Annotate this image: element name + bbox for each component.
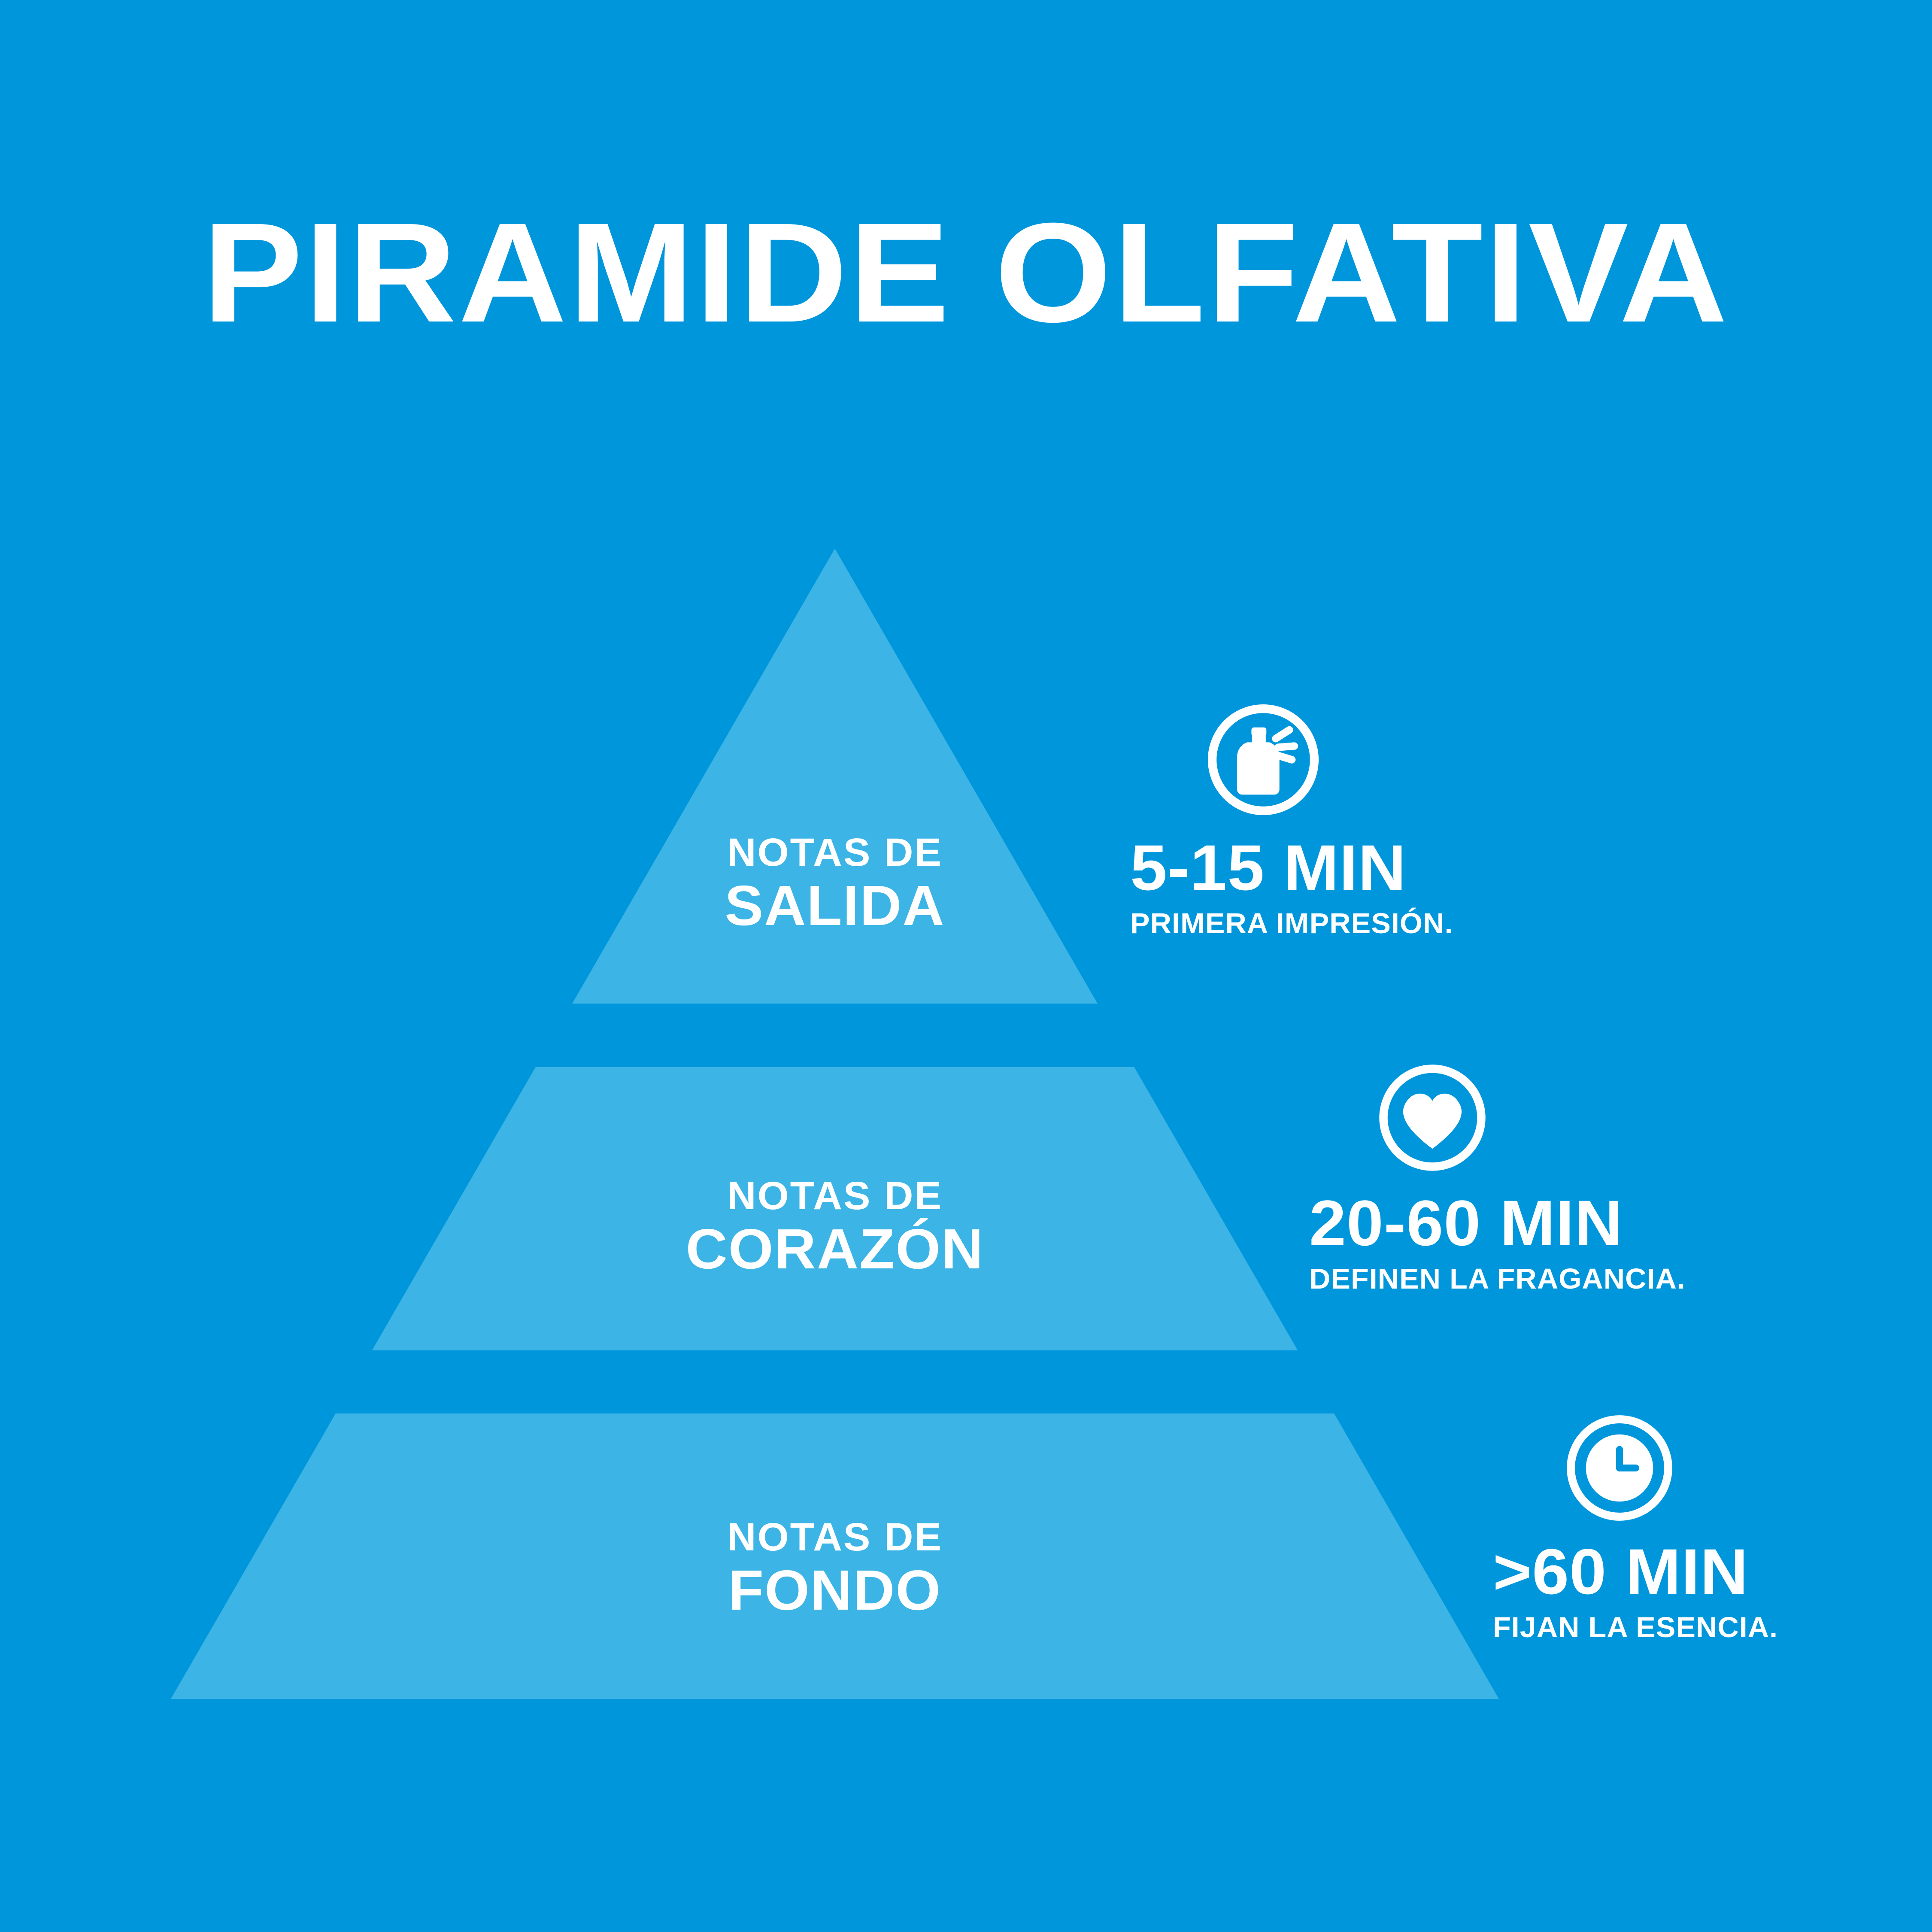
pyramid-label-middle-line2: CORAZÓN xyxy=(485,1221,1185,1277)
pyramid-band-top xyxy=(0,549,1932,1004)
pyramid-label-middle-line1: NOTAS DE xyxy=(485,1176,1185,1216)
info-block-middle: 20-60 MIN DEFINEN LA FRAGANCIA. xyxy=(1309,1058,1678,1293)
pyramid-label-bottom: NOTAS DE FONDO xyxy=(491,1517,1178,1619)
description-top: PRIMERA IMPRESIÓN. xyxy=(1130,909,1453,938)
info-block-top: 5-15 MIN PRIMERA IMPRESIÓN. xyxy=(1130,698,1447,938)
duration-middle: 20-60 MIN xyxy=(1309,1191,1689,1255)
pyramid-label-middle: NOTAS DE CORAZÓN xyxy=(491,1176,1178,1277)
pyramid-label-bottom-line1: NOTAS DE xyxy=(485,1517,1185,1557)
page-title: PIRAMIDE OLFATIVA xyxy=(0,202,1932,343)
heart-icon xyxy=(1373,1058,1678,1180)
description-middle: DEFINEN LA FRAGANCIA. xyxy=(1309,1265,1686,1293)
pyramid-label-top: NOTAS DE SALIDA xyxy=(491,833,1178,934)
duration-top: 5-15 MIN xyxy=(1130,835,1456,900)
pyramid-label-top-line1: NOTAS DE xyxy=(485,833,1185,872)
clock-icon xyxy=(1562,1410,1772,1528)
duration-bottom: >60 MIN xyxy=(1493,1539,1781,1604)
pyramid-label-top-line2: SALIDA xyxy=(485,877,1185,934)
spray-bottle-icon xyxy=(1201,698,1447,824)
description-bottom: FIJAN LA ESENCIA. xyxy=(1493,1613,1778,1642)
infographic-canvas: PIRAMIDE OLFATIVA NOTAS DE SALIDA NOTAS … xyxy=(0,0,1932,1932)
pyramid-label-bottom-line2: FONDO xyxy=(485,1562,1185,1619)
info-block-bottom: >60 MIN FIJAN LA ESENCIA. xyxy=(1493,1410,1772,1642)
